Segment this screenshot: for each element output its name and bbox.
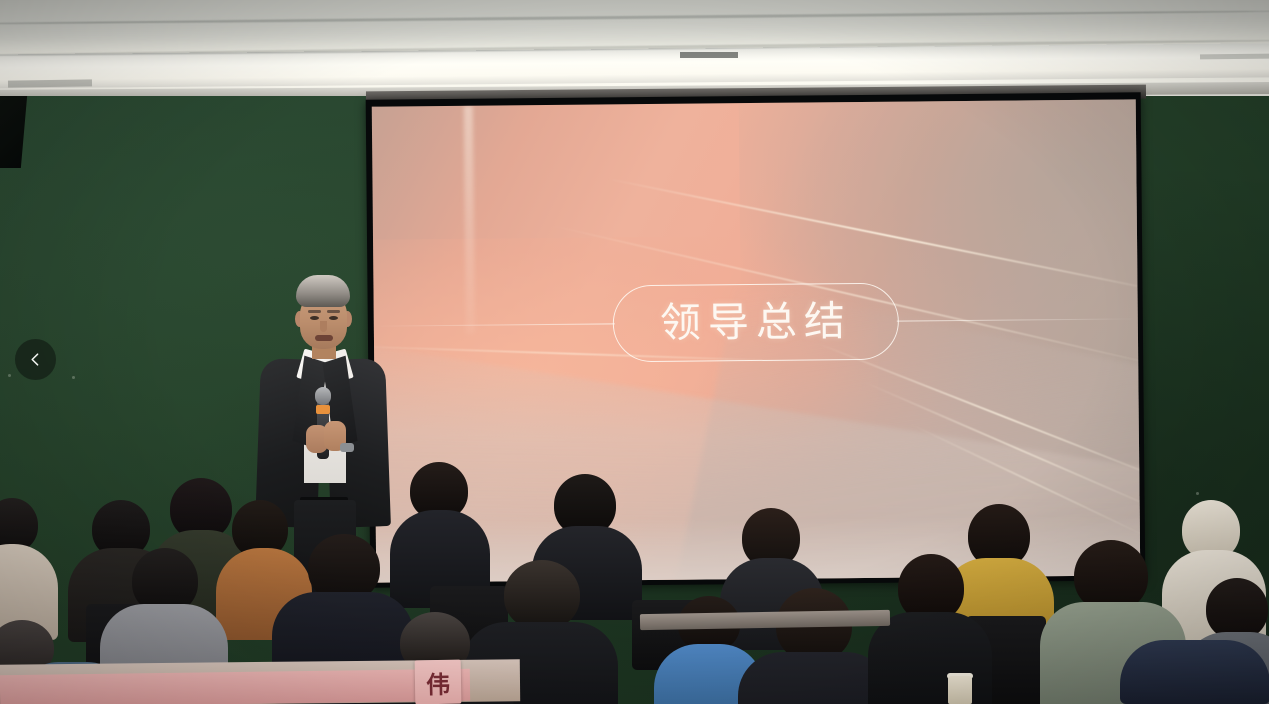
microphone-head <box>315 387 331 405</box>
presenter-hair <box>296 275 350 307</box>
head <box>504 560 580 630</box>
presenter-eyebrow <box>308 310 321 313</box>
drink-cup <box>948 676 972 704</box>
wall-mark <box>72 376 75 379</box>
slide-rule-left <box>374 323 615 326</box>
ceiling-vent <box>1200 54 1269 60</box>
presenter-eye <box>310 316 319 320</box>
presenter-eyebrow <box>327 310 340 313</box>
microphone-accent-ring <box>316 405 330 414</box>
projection-screen: 领导总结 <box>372 99 1141 582</box>
previous-image-button[interactable]: 上一张 <box>15 339 56 380</box>
slide-title-group: 领导总结 <box>373 280 1138 364</box>
presenter-mouth <box>315 335 333 341</box>
slide-title: 领导总结 <box>612 283 899 363</box>
table-skirt <box>0 669 470 704</box>
wall-mark <box>1196 492 1199 495</box>
ceiling <box>0 0 1269 98</box>
presenter-nose <box>320 321 327 332</box>
name-placard: 伟 <box>415 660 462 704</box>
presenter-eye <box>329 316 338 320</box>
torso <box>1120 640 1269 704</box>
ceiling-seam <box>0 10 1269 26</box>
ceiling-vent <box>8 79 92 87</box>
cove-light-strip <box>0 43 1269 89</box>
photo-viewer: 领导总结 <box>0 0 1269 704</box>
chevron-left-icon <box>28 352 43 367</box>
head <box>1206 578 1268 640</box>
ceiling-speaker <box>680 52 738 58</box>
presenter-watch <box>340 443 354 452</box>
slide-rule-right <box>897 318 1138 321</box>
wall-mark <box>8 374 11 377</box>
